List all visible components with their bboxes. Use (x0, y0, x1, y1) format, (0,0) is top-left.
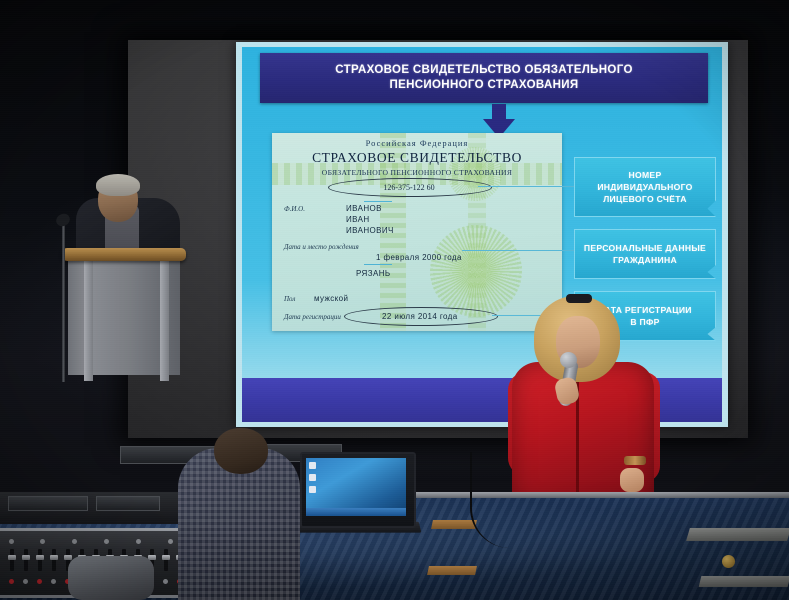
laptop-taskbar[interactable] (306, 508, 406, 516)
certificate-subheading: ОБЯЗАТЕЛЬНОГО ПЕНСИОННОГО СТРАХОВАНИЯ (272, 168, 562, 177)
callout-1-line-3: ЛИЦЕВОГО СЧЁТА (603, 193, 687, 205)
podium-top-surface (62, 248, 186, 261)
field-label-birth: Дата и место рождения (284, 243, 359, 251)
chair-seat-lower (427, 566, 477, 575)
chair-seat-upper (431, 520, 477, 529)
stage-knob-icon (722, 555, 735, 568)
field-value-sex: мужской (314, 294, 348, 303)
slide-canvas: СТРАХОВОЕ СВИДЕТЕЛЬСТВО ОБЯЗАТЕЛЬНОГО ПЕ… (242, 47, 722, 422)
slide-title-band: СТРАХОВОЕ СВИДЕТЕЛЬСТВО ОБЯЗАТЕЛЬНОГО ПЕ… (260, 53, 708, 103)
certificate-heading: СТРАХОВОЕ СВИДЕТЕЛЬСТВО (272, 150, 562, 166)
callout-3-line-2: В ПФР (630, 316, 659, 328)
stage-speaker-right-hand (620, 468, 644, 492)
field-label-sex: Пол (284, 295, 295, 303)
desktop-icon-1[interactable] (309, 462, 316, 469)
microphone-head-icon (560, 352, 577, 368)
slide-title-line-2: ПЕНСИОННОГО СТРАХОВАНИЯ (389, 78, 578, 93)
hair-clip (566, 294, 592, 303)
field-value-birthplace: РЯЗАНЬ (356, 269, 391, 278)
stage-step-upper (686, 528, 789, 541)
podium-leg-left (84, 261, 93, 381)
projected-slide: СТРАХОВОЕ СВИДЕТЕЛЬСТВО ОБЯЗАТЕЛЬНОГО ПЕ… (236, 42, 728, 427)
certificate-country: Российская Федерация (272, 138, 562, 148)
field-value-regdate: 22 июля 2014 года (382, 312, 458, 321)
callout-account-number: НОМЕР ИНДИВИДУАЛЬНОГО ЛИЦЕВОГО СЧЁТА (574, 157, 716, 217)
certificate-header: Российская Федерация СТРАХОВОЕ СВИДЕТЕЛЬ… (272, 138, 562, 177)
certificate-number: 126-375-122 60 (334, 183, 484, 192)
desktop-icon-3[interactable] (309, 486, 316, 493)
callout-2-line-2: ГРАЖДАНИНА (613, 254, 677, 266)
rack-unit-2 (96, 496, 160, 511)
wristwatch (624, 456, 646, 465)
rack-unit-1 (8, 496, 88, 511)
presentation-photo: СТРАХОВОЕ СВИДЕТЕЛЬСТВО ОБЯЗАТЕЛЬНОГО ПЕ… (0, 0, 789, 600)
connector-line-2 (462, 250, 592, 251)
callout-personal-data: ПЕРСОНАЛЬНЫЕ ДАННЫЕ ГРАЖДАНИНА (574, 229, 716, 279)
podium-speaker-hair (96, 174, 140, 196)
snils-certificate-card: Российская Федерация СТРАХОВОЕ СВИДЕТЕЛЬ… (272, 133, 562, 331)
slide-title-line-1: СТРАХОВОЕ СВИДЕТЕЛЬСТВО ОБЯЗАТЕЛЬНОГО (335, 63, 633, 78)
stage-step-lower (699, 576, 789, 587)
callout-1-line-2: ИНДИВИДУАЛЬНОГО (597, 181, 692, 193)
callout-1-line-1: НОМЕР (628, 169, 661, 181)
field-label-regdate: Дата регистрации (284, 313, 341, 321)
technician-head (214, 428, 268, 474)
callout-2-line-1: ПЕРСОНАЛЬНЫЕ ДАННЫЕ (584, 242, 706, 254)
desktop-icon-2[interactable] (309, 474, 316, 481)
draped-cloth (68, 556, 154, 600)
microphone-stand (62, 222, 65, 382)
podium-leg-right (160, 261, 169, 381)
field-label-fio: Ф.И.О. (284, 205, 305, 213)
